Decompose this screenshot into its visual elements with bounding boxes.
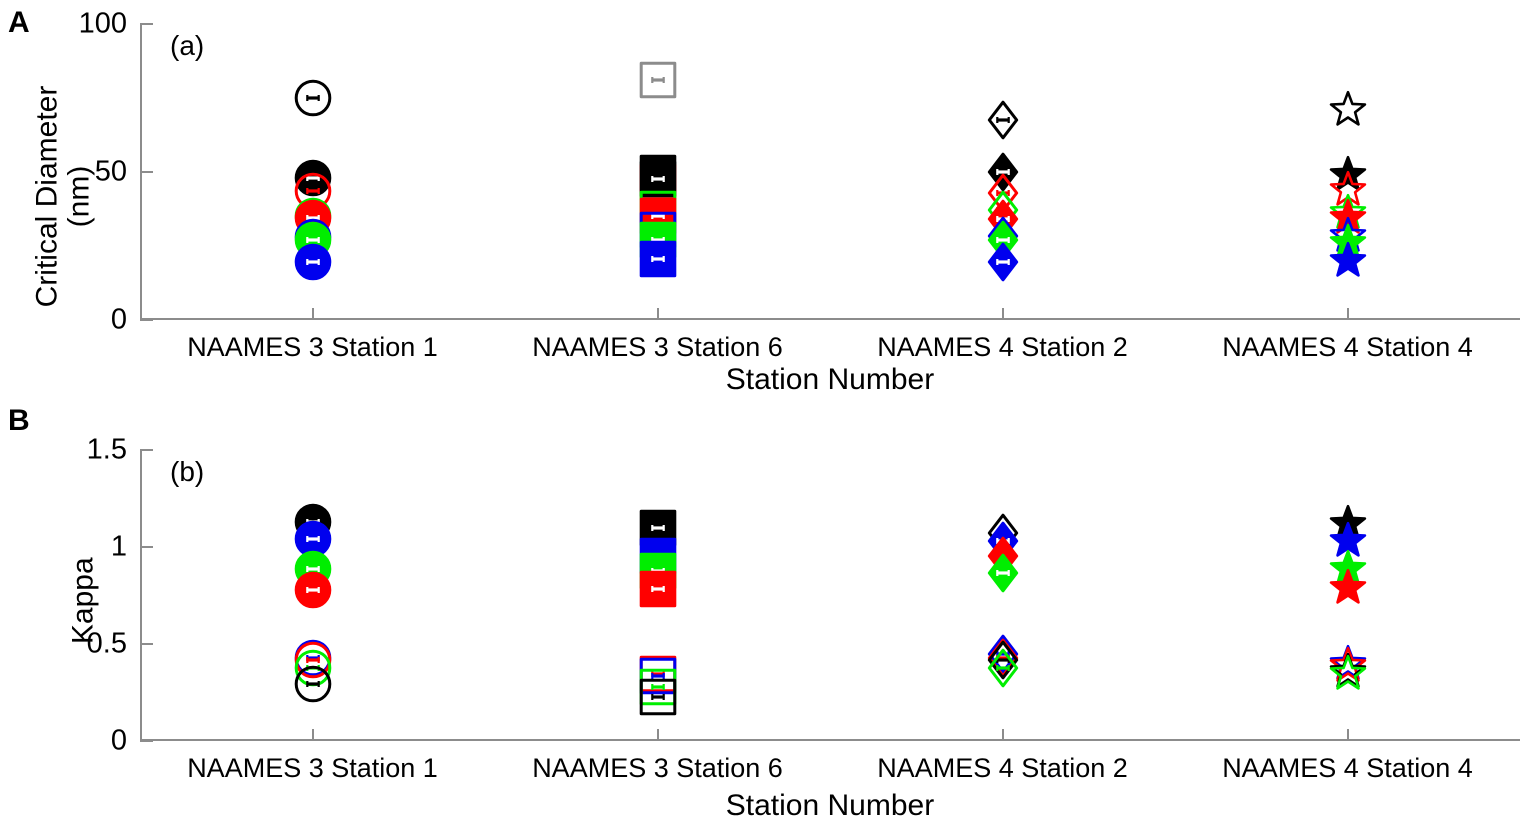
y-tick-mark — [140, 643, 153, 645]
y-axis-label-b: Kappa — [67, 476, 99, 726]
plot-axes-a: (a) 050100NAAMES 3 Station 1NAAMES 3 Sta… — [140, 24, 1520, 320]
y-tick-label: 0 — [111, 306, 140, 335]
panel-b: B Kappa (b) 00.511.5NAAMES 3 Station 1NA… — [0, 400, 1535, 831]
data-point-diamond — [984, 649, 1022, 687]
data-point-circle — [294, 243, 332, 281]
y-tick-label: 50 — [95, 158, 140, 187]
y-tick-mark — [140, 449, 153, 451]
y-axis-label-a-line1: Critical Diameter — [32, 72, 64, 322]
y-axis-label-a: Critical Diameter (nm) — [32, 72, 95, 322]
data-point-diamond — [984, 101, 1022, 139]
y-tick-label: 1.5 — [87, 436, 140, 465]
x-tick-label-3: NAAMES 4 Station 2 — [877, 755, 1128, 782]
data-point-square — [639, 61, 677, 99]
y-tick-mark — [140, 23, 153, 25]
x-axis-label-a: Station Number — [726, 365, 934, 395]
y-tick-label: 1 — [111, 533, 140, 562]
panel-a: A Critical Diameter (nm) (a) 050100NAAME… — [0, 0, 1535, 400]
data-point-circle — [294, 79, 332, 117]
x-tick-label-3: NAAMES 4 Station 2 — [877, 334, 1128, 361]
x-tick-mark — [1002, 308, 1004, 320]
y-tick-mark — [140, 319, 153, 321]
x-tick-mark — [1347, 729, 1349, 741]
panel-letter-a: A — [8, 8, 30, 38]
x-tick-label-1: NAAMES 3 Station 1 — [187, 334, 438, 361]
data-point-square — [639, 570, 677, 608]
data-point-star — [1329, 655, 1367, 693]
y-tick-label: 100 — [79, 10, 140, 39]
data-point-star — [1329, 569, 1367, 607]
x-tick-mark — [1347, 308, 1349, 320]
panel-letter-b: B — [8, 406, 30, 436]
x-tick-label-1: NAAMES 3 Station 1 — [187, 755, 438, 782]
plot-area-a — [140, 24, 1520, 320]
x-tick-mark — [1002, 729, 1004, 741]
x-axis-label-b: Station Number — [726, 791, 934, 821]
y-tick-label: 0 — [111, 727, 140, 756]
data-point-circle — [294, 665, 332, 703]
y-axis-label-a-line2: (nm) — [63, 72, 95, 322]
x-tick-label-2: NAAMES 3 Station 6 — [532, 334, 783, 361]
data-point-star — [1329, 242, 1367, 280]
x-tick-mark — [657, 308, 659, 320]
data-point-square — [639, 240, 677, 278]
x-tick-mark — [312, 308, 314, 320]
x-tick-label-4: NAAMES 4 Station 4 — [1222, 755, 1473, 782]
y-tick-mark — [140, 546, 153, 548]
y-tick-mark — [140, 740, 153, 742]
x-tick-label-2: NAAMES 3 Station 6 — [532, 755, 783, 782]
data-point-diamond — [984, 554, 1022, 592]
x-tick-label-4: NAAMES 4 Station 4 — [1222, 334, 1473, 361]
data-point-circle — [294, 571, 332, 609]
data-point-square — [639, 678, 677, 716]
y-tick-mark — [140, 171, 153, 173]
data-point-diamond — [984, 243, 1022, 281]
plot-area-b — [140, 450, 1520, 741]
data-point-star — [1329, 91, 1367, 129]
plot-axes-b: (b) 00.511.5NAAMES 3 Station 1NAAMES 3 S… — [140, 450, 1520, 741]
y-axis-label-b-line1: Kappa — [67, 476, 99, 726]
x-tick-mark — [312, 729, 314, 741]
y-tick-label: 0.5 — [87, 630, 140, 659]
x-tick-mark — [657, 729, 659, 741]
